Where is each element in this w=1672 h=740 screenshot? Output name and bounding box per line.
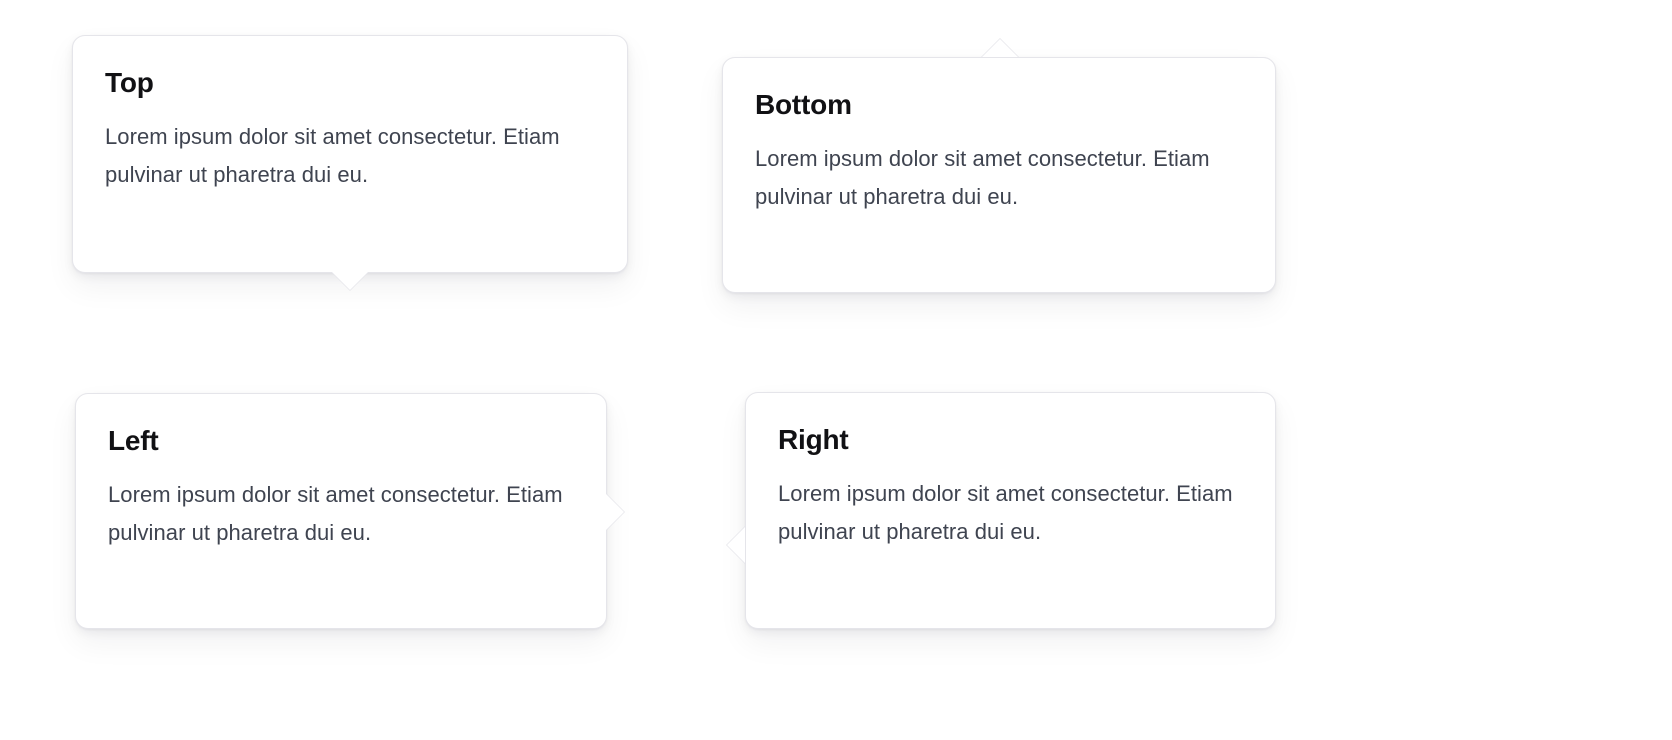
popover-top-body: Lorem ipsum dolor sit amet consectetur. … bbox=[105, 100, 595, 194]
popover-bottom-body: Lorem ipsum dolor sit amet consectetur. … bbox=[755, 122, 1243, 216]
arrow-up-icon-fill bbox=[982, 39, 1018, 57]
popover-showcase-stage: Top Lorem ipsum dolor sit amet consectet… bbox=[0, 0, 1672, 740]
arrow-right-icon bbox=[606, 493, 625, 531]
popover-right-title: Right bbox=[778, 423, 1243, 457]
arrow-up-icon bbox=[981, 38, 1019, 57]
popover-bottom[interactable]: Bottom Lorem ipsum dolor sit amet consec… bbox=[722, 57, 1276, 293]
popover-top[interactable]: Top Lorem ipsum dolor sit amet consectet… bbox=[72, 35, 628, 273]
arrow-left-icon bbox=[726, 526, 745, 564]
arrow-left-icon-fill bbox=[727, 527, 745, 563]
arrow-down-icon bbox=[331, 272, 369, 291]
arrow-down-icon-fill bbox=[332, 272, 368, 290]
popover-bottom-title: Bottom bbox=[755, 88, 1243, 122]
popover-right[interactable]: Right Lorem ipsum dolor sit amet consect… bbox=[745, 392, 1276, 629]
popover-left[interactable]: Left Lorem ipsum dolor sit amet consecte… bbox=[75, 393, 607, 629]
popover-top-title: Top bbox=[105, 66, 595, 100]
arrow-right-icon-fill bbox=[606, 494, 624, 530]
popover-left-title: Left bbox=[108, 424, 574, 458]
popover-right-body: Lorem ipsum dolor sit amet consectetur. … bbox=[778, 457, 1243, 551]
popover-left-body: Lorem ipsum dolor sit amet consectetur. … bbox=[108, 458, 574, 552]
